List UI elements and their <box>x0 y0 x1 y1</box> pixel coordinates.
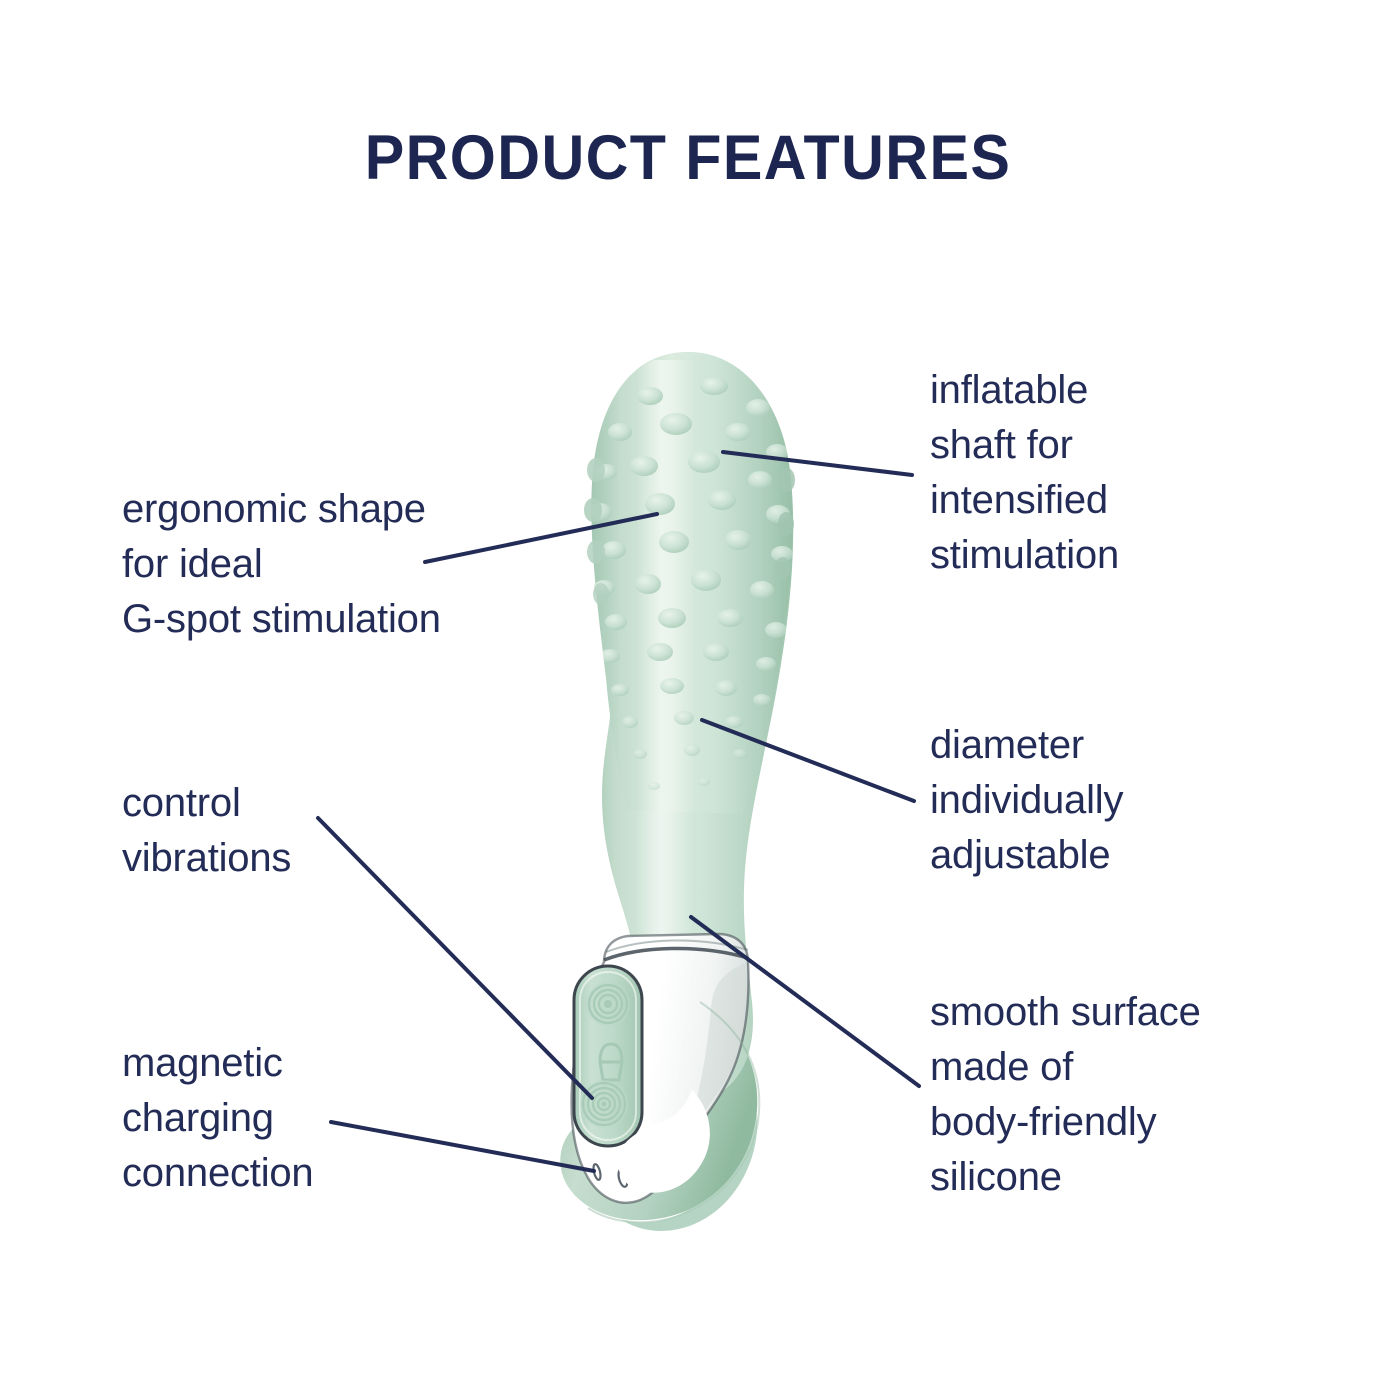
callout-control-vibrations: control vibrations <box>122 776 422 886</box>
infographic-page: PRODUCT FEATURES <box>0 0 1376 1376</box>
callout-ergonomic-shape: ergonomic shape for ideal G-spot stimula… <box>122 482 542 647</box>
callout-smooth-surface: smooth surface made of body-friendly sil… <box>930 985 1280 1205</box>
button-vibration-down[interactable] <box>580 1080 628 1128</box>
callout-diameter-adjustable: diameter individually adjustable <box>930 718 1270 883</box>
product-body <box>560 352 795 1231</box>
callout-magnetic-charging: magnetic charging connection <box>122 1036 422 1201</box>
button-vibration-up[interactable] <box>586 982 630 1026</box>
callout-inflatable-shaft: inflatable shaft for intensified stimula… <box>930 363 1260 583</box>
